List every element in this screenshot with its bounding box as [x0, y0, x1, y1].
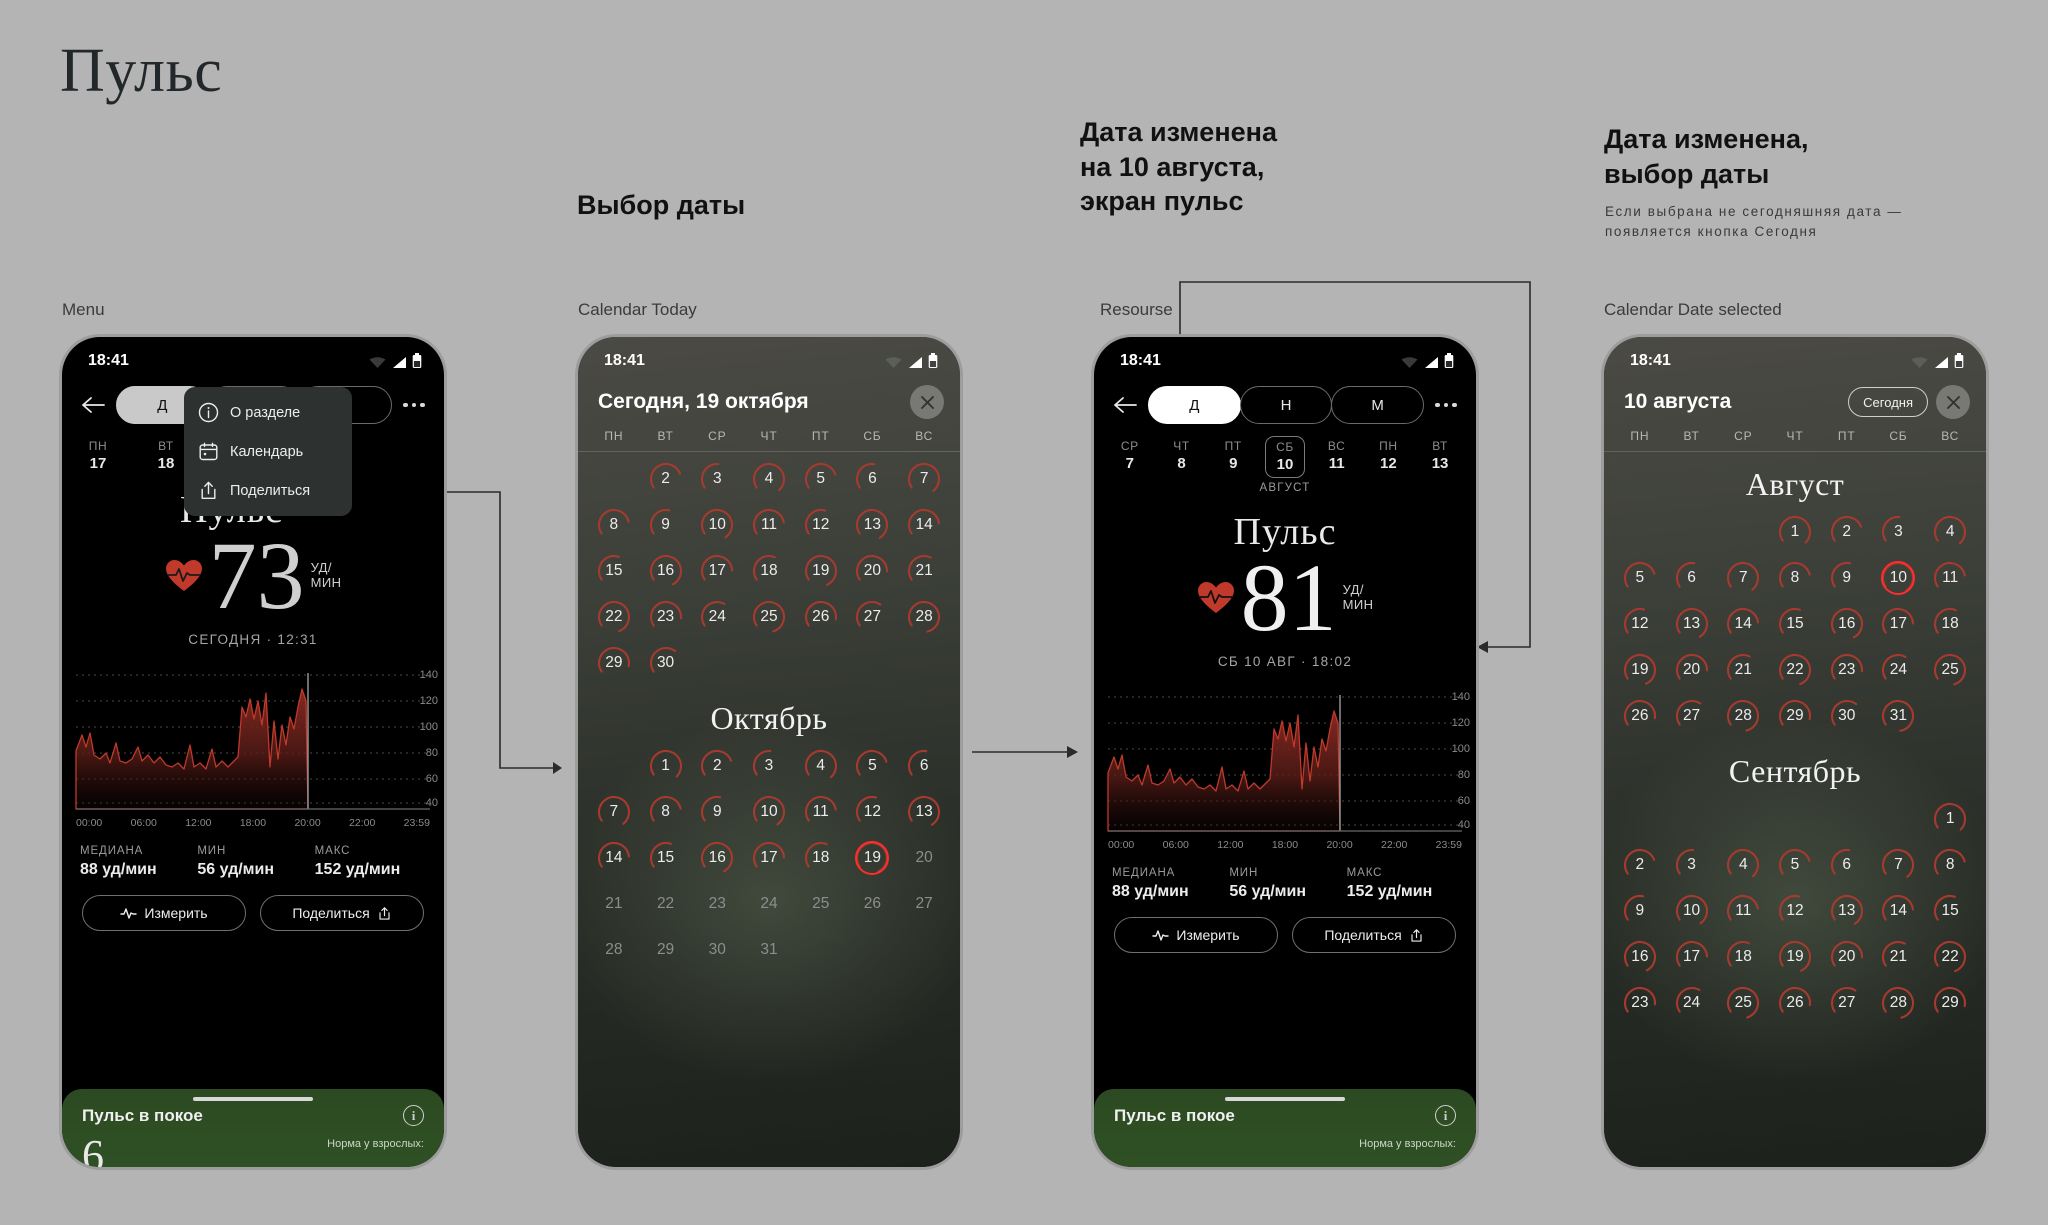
day-cell[interactable]: 1	[1924, 798, 1976, 840]
day-cell[interactable]: 6	[847, 458, 899, 500]
day-number: 27	[1838, 994, 1855, 1012]
y-label: 60	[426, 773, 438, 785]
weekday-label: ПН	[1614, 429, 1666, 443]
day-cell[interactable]: 15	[1924, 890, 1976, 932]
day-cell[interactable]: 27	[1666, 695, 1718, 737]
day-cell[interactable]: 8	[1769, 557, 1821, 599]
day-number: 3	[1687, 856, 1696, 874]
top-bar: Д Н М	[1094, 377, 1476, 430]
day-cell[interactable]: 23	[1821, 649, 1873, 691]
day-cell[interactable]: 24	[1873, 649, 1925, 691]
annotation-date-selected: Дата изменена, выбор даты	[1604, 122, 1808, 191]
status-clock: 18:41	[1630, 352, 1671, 370]
weekday-label: СБ	[1873, 429, 1925, 443]
annotation-subtext: Если выбрана не сегодняшняя дата — появл…	[1605, 202, 1903, 243]
date-num: 18	[146, 455, 186, 472]
day-cell[interactable]: 5	[1769, 844, 1821, 886]
bpm-unit: УД/ МИН	[311, 561, 342, 590]
day-number: 27	[864, 608, 881, 626]
screen-menu: 18:41 Д Н М ПН 17 ВТ 18	[62, 337, 444, 1167]
day-number: 4	[1946, 523, 1955, 541]
day-cell[interactable]: 13	[898, 791, 950, 833]
bpm-row: 81 УД/ МИН	[1094, 550, 1476, 646]
share-button-label: Поделиться	[1324, 927, 1401, 943]
pulse-chart: 140 120 100 80 60 40	[62, 663, 444, 813]
bpm-unit-line: УД/	[1343, 583, 1374, 598]
day-number: 6	[1842, 856, 1851, 874]
day-cell[interactable]: 9	[691, 791, 743, 833]
date-num: 12	[1368, 455, 1408, 472]
day-number: 4	[765, 470, 774, 488]
day-number: 31	[760, 941, 777, 959]
day-cell[interactable]: 12	[795, 504, 847, 546]
day-cell[interactable]: 10	[1873, 557, 1925, 599]
x-label: 23:59	[404, 817, 430, 829]
day-number: 13	[1683, 615, 1700, 633]
pulse-wave-icon	[120, 906, 137, 920]
back-arrow-icon[interactable]	[78, 393, 108, 417]
day-number: 31	[1890, 707, 1907, 725]
day-cell[interactable]: 17	[1666, 936, 1718, 978]
day-number: 26	[1631, 707, 1648, 725]
day-cell[interactable]: 29	[1924, 982, 1976, 1024]
day-cell[interactable]: 12	[1614, 603, 1666, 645]
date-cell[interactable]: ПН 12	[1368, 436, 1408, 478]
day-number: 20	[1683, 661, 1700, 679]
day-cell[interactable]: 31	[743, 929, 795, 971]
calendar-month-name: Сентябрь	[1614, 737, 1976, 798]
weekday-label: ВС	[1924, 429, 1976, 443]
wifi-icon	[885, 356, 902, 369]
info-icon	[198, 402, 219, 423]
weekday-label: ПТ	[1821, 429, 1873, 443]
day-cell[interactable]: 22	[1769, 649, 1821, 691]
status-bar: 18:41	[578, 337, 960, 377]
day-number: 19	[1786, 948, 1803, 966]
day-number: 14	[1890, 902, 1907, 920]
back-arrow-icon[interactable]	[1110, 393, 1140, 417]
day-cell[interactable]: 2	[640, 458, 692, 500]
y-label: 120	[420, 695, 438, 707]
day-cell[interactable]: 3	[1873, 511, 1925, 553]
day-cell[interactable]: 13	[1821, 890, 1873, 932]
wifi-icon	[369, 356, 386, 369]
day-cell[interactable]: 28	[1717, 695, 1769, 737]
day-cell[interactable]: 17	[1873, 603, 1925, 645]
day-cell[interactable]: 17	[691, 550, 743, 592]
day-number: 13	[916, 803, 933, 821]
day-number: 16	[709, 849, 726, 867]
day-cell[interactable]: 22	[588, 596, 640, 638]
day-cell[interactable]: 26	[1769, 982, 1821, 1024]
x-label: 18:00	[1272, 839, 1298, 851]
day-number: 25	[1735, 994, 1752, 1012]
measure-button[interactable]: Измерить	[82, 895, 246, 931]
day-cell[interactable]: 27	[847, 596, 899, 638]
date-cell[interactable]: СР 7	[1110, 436, 1150, 478]
stat-max: МАКС 152 уд/мин	[315, 845, 426, 879]
day-number: 17	[709, 562, 726, 580]
day-number: 15	[1942, 902, 1959, 920]
close-button[interactable]	[1936, 385, 1970, 419]
day-cell[interactable]: 8	[588, 504, 640, 546]
day-number: 2	[1636, 856, 1645, 874]
phone-screen-menu: 18:41 Д Н М ПН 17 ВТ 18	[62, 337, 444, 1167]
calendar-grid-previous-month: 2345678910111213141516171819202122232425…	[588, 458, 950, 684]
day-cell[interactable]: 28	[898, 596, 950, 638]
day-cell[interactable]: 16	[1821, 603, 1873, 645]
day-number: 26	[812, 608, 829, 626]
day-cell[interactable]: 4	[795, 745, 847, 787]
day-cell-empty	[588, 745, 640, 787]
info-icon[interactable]: i	[403, 1105, 424, 1126]
day-cell[interactable]: 2	[691, 745, 743, 787]
caption-calendar-today: Calendar Today	[578, 300, 697, 320]
close-button[interactable]	[910, 385, 944, 419]
date-cell[interactable]: ПТ 9	[1213, 436, 1253, 478]
weekday-label: ПН	[588, 429, 640, 443]
day-number: 4	[1739, 856, 1748, 874]
day-cell[interactable]: 8	[1924, 844, 1976, 886]
day-cell[interactable]: 19	[1614, 649, 1666, 691]
screen-calendar-selected: 18:41 10 августа Сегодня ПН ВТ СР ЧТ ПТ …	[1604, 337, 1986, 1167]
date-cell[interactable]: ВТ 18	[146, 436, 186, 476]
day-number: 21	[1890, 948, 1907, 966]
calendar-grid-september: 1234567891011121314151617181920212223242…	[1614, 798, 1976, 1024]
y-label: 40	[1458, 819, 1470, 831]
x-label: 12:00	[1217, 839, 1243, 851]
stat-label: МЕДИАНА	[1112, 867, 1223, 879]
day-cell[interactable]: 15	[1769, 603, 1821, 645]
day-cell[interactable]: 5	[795, 458, 847, 500]
day-cell[interactable]: 22	[640, 883, 692, 925]
stat-min: МИН 56 уд/мин	[1229, 867, 1340, 901]
day-cell[interactable]: 9	[640, 504, 692, 546]
day-cell[interactable]: 12	[1769, 890, 1821, 932]
day-number: 10	[1890, 569, 1907, 587]
stats-row: МЕДИАНА 88 уд/мин МИН 56 уд/мин МАКС 152…	[1094, 851, 1476, 901]
day-cell[interactable]: 11	[743, 504, 795, 546]
day-cell[interactable]: 6	[898, 745, 950, 787]
day-number: 1	[661, 757, 670, 775]
date-num: 11	[1317, 455, 1357, 472]
day-number: 27	[1683, 707, 1700, 725]
bpm-value: 73	[209, 528, 305, 624]
stat-label: МАКС	[315, 845, 426, 857]
day-number: 5	[1636, 569, 1645, 587]
status-bar: 18:41	[1094, 337, 1476, 377]
day-number: 18	[812, 849, 829, 867]
day-number: 3	[713, 470, 722, 488]
day-cell[interactable]: 9	[1614, 890, 1666, 932]
day-cell[interactable]: 21	[898, 550, 950, 592]
share-button[interactable]: Поделиться	[1292, 917, 1456, 953]
day-cell[interactable]: 25	[1924, 649, 1976, 691]
day-cell[interactable]: 1	[640, 745, 692, 787]
annotation-line: Дата изменена,	[1604, 122, 1808, 157]
day-number: 28	[605, 941, 622, 959]
signal-icon	[1933, 356, 1949, 369]
day-cell[interactable]: 18	[1924, 603, 1976, 645]
day-cell[interactable]: 7	[898, 458, 950, 500]
day-cell[interactable]: 13	[847, 504, 899, 546]
day-cell[interactable]: 27	[898, 883, 950, 925]
day-cell[interactable]: 11	[1717, 890, 1769, 932]
day-cell-empty	[1821, 798, 1873, 840]
day-number: 12	[812, 516, 829, 534]
bpm-value: 81	[1241, 550, 1337, 646]
y-label: 80	[426, 747, 438, 759]
home-indicator	[193, 1097, 313, 1101]
day-cell[interactable]: 19	[795, 550, 847, 592]
date-strip: СР 7 ЧТ 8 ПТ 9 СБ 10 ВС 11 ПН 12	[1094, 430, 1476, 480]
day-cell[interactable]: 5	[847, 745, 899, 787]
menu-item-share[interactable]: Поделиться	[184, 471, 352, 510]
day-number: 12	[1786, 902, 1803, 920]
day-cell[interactable]: 27	[1821, 982, 1873, 1024]
day-cell[interactable]: 17	[743, 837, 795, 879]
close-icon	[920, 395, 935, 410]
day-cell[interactable]: 29	[588, 642, 640, 684]
x-label: 20:00	[1326, 839, 1352, 851]
weekday-label: СР	[1717, 429, 1769, 443]
day-cell[interactable]: 28	[1873, 982, 1925, 1024]
calendar-weekday-header: ПН ВТ СР ЧТ ПТ СБ ВС	[578, 429, 960, 452]
day-cell[interactable]: 16	[1614, 936, 1666, 978]
annotation-subline: появляется кнопка Сегодня	[1605, 222, 1903, 242]
day-cell[interactable]: 23	[1614, 982, 1666, 1024]
day-cell[interactable]: 2	[1821, 511, 1873, 553]
day-cell[interactable]: 30	[1821, 695, 1873, 737]
day-cell[interactable]: 28	[588, 929, 640, 971]
day-number: 20	[916, 849, 933, 867]
day-cell[interactable]: 1	[1769, 511, 1821, 553]
day-number: 19	[864, 849, 881, 867]
context-menu: О разделе Календарь Поделиться	[184, 387, 352, 516]
calendar-icon	[198, 441, 219, 462]
period-segmented-control: Д Н М	[1148, 386, 1424, 424]
day-cell[interactable]: 14	[898, 504, 950, 546]
segment-day[interactable]: Д	[1148, 386, 1241, 424]
day-cell[interactable]: 13	[1666, 603, 1718, 645]
day-number: 4	[816, 757, 825, 775]
day-cell[interactable]: 10	[743, 791, 795, 833]
day-cell[interactable]: 12	[847, 791, 899, 833]
resting-pulse-title-row: Пульс в покое i	[82, 1105, 424, 1126]
day-number: 6	[920, 757, 929, 775]
caption-resourse: Resourse	[1100, 300, 1173, 320]
day-cell[interactable]: 20	[1821, 936, 1873, 978]
day-cell[interactable]: 9	[1821, 557, 1873, 599]
day-number: 12	[1631, 615, 1648, 633]
day-cell[interactable]: 19	[847, 837, 899, 879]
day-number: 26	[864, 895, 881, 913]
day-cell[interactable]: 21	[588, 883, 640, 925]
day-cell[interactable]: 23	[640, 596, 692, 638]
date-num: 13	[1420, 455, 1460, 472]
day-cell[interactable]: 14	[1873, 890, 1925, 932]
day-number: 8	[1946, 856, 1955, 874]
menu-item-label: Поделиться	[230, 483, 310, 499]
date-cell[interactable]: ВС 11	[1317, 436, 1357, 478]
date-cell-selected[interactable]: СБ 10	[1265, 436, 1305, 478]
stat-max: МАКС 152 уд/мин	[1347, 867, 1458, 901]
day-cell-empty	[1666, 511, 1718, 553]
more-options-icon[interactable]	[400, 403, 428, 408]
day-cell[interactable]: 26	[847, 883, 899, 925]
home-indicator	[1225, 1097, 1345, 1101]
day-cell[interactable]: 4	[743, 458, 795, 500]
day-cell[interactable]: 18	[743, 550, 795, 592]
measure-button[interactable]: Измерить	[1114, 917, 1278, 953]
day-number: 28	[1890, 994, 1907, 1012]
signal-icon	[391, 356, 407, 369]
day-number: 10	[760, 803, 777, 821]
day-number: 29	[657, 941, 674, 959]
day-cell[interactable]: 3	[1666, 844, 1718, 886]
day-cell[interactable]: 6	[1821, 844, 1873, 886]
day-cell[interactable]: 30	[640, 642, 692, 684]
day-number: 29	[605, 654, 622, 672]
wifi-icon	[1401, 356, 1418, 369]
day-number: 14	[1735, 615, 1752, 633]
day-cell[interactable]: 26	[795, 596, 847, 638]
day-cell[interactable]: 3	[743, 745, 795, 787]
day-cell[interactable]: 22	[1924, 936, 1976, 978]
resting-pulse-note: Норма у взрослых:	[1114, 1138, 1456, 1150]
day-cell[interactable]: 20	[898, 837, 950, 879]
annotation-date-changed: Дата изменена на 10 августа, экран пульс	[1080, 115, 1277, 219]
day-cell[interactable]: 15	[640, 837, 692, 879]
day-cell[interactable]: 21	[1717, 649, 1769, 691]
resting-pulse-title-row: Пульс в покое i	[1114, 1105, 1456, 1126]
day-number: 21	[1735, 661, 1752, 679]
day-cell[interactable]: 30	[691, 929, 743, 971]
day-number: 30	[657, 654, 674, 672]
day-number: 17	[760, 849, 777, 867]
day-cell[interactable]: 24	[1666, 982, 1718, 1024]
signal-icon	[907, 356, 923, 369]
segment-month[interactable]: М	[1331, 386, 1424, 424]
day-cell[interactable]: 6	[1666, 557, 1718, 599]
day-cell[interactable]: 7	[1873, 844, 1925, 886]
stat-label: МИН	[197, 845, 308, 857]
day-cell[interactable]: 14	[588, 837, 640, 879]
segment-week[interactable]: Н	[1240, 386, 1333, 424]
day-cell[interactable]: 18	[795, 837, 847, 879]
day-cell[interactable]: 16	[640, 550, 692, 592]
day-cell[interactable]: 26	[1614, 695, 1666, 737]
day-cell[interactable]: 15	[588, 550, 640, 592]
day-cell-empty	[1614, 798, 1666, 840]
day-number: 19	[812, 562, 829, 580]
share-button[interactable]: Поделиться	[260, 895, 424, 931]
day-cell-empty	[1873, 798, 1925, 840]
day-cell[interactable]: 8	[640, 791, 692, 833]
day-cell[interactable]: 10	[691, 504, 743, 546]
day-cell[interactable]: 19	[1769, 936, 1821, 978]
day-cell[interactable]: 21	[1873, 936, 1925, 978]
battery-icon	[1444, 353, 1454, 369]
weekday-label: СБ	[847, 429, 899, 443]
day-cell[interactable]: 5	[1614, 557, 1666, 599]
day-cell[interactable]: 14	[1717, 603, 1769, 645]
day-cell[interactable]: 25	[795, 883, 847, 925]
day-cell-empty	[1666, 798, 1718, 840]
day-cell[interactable]: 29	[640, 929, 692, 971]
day-cell[interactable]: 31	[1873, 695, 1925, 737]
day-cell-empty	[1717, 798, 1769, 840]
day-cell[interactable]: 23	[691, 883, 743, 925]
day-number: 15	[657, 849, 674, 867]
day-cell[interactable]: 20	[847, 550, 899, 592]
day-cell[interactable]: 29	[1769, 695, 1821, 737]
day-cell[interactable]: 25	[743, 596, 795, 638]
day-cell[interactable]: 4	[1924, 511, 1976, 553]
day-number: 8	[610, 516, 619, 534]
day-number: 9	[1842, 569, 1851, 587]
menu-item-calendar[interactable]: Календарь	[184, 432, 352, 471]
day-cell[interactable]: 20	[1666, 649, 1718, 691]
day-cell[interactable]: 24	[691, 596, 743, 638]
day-number: 22	[1942, 948, 1959, 966]
status-icons	[369, 353, 422, 369]
status-icons	[1911, 353, 1964, 369]
chart-x-axis: 00:00 06:00 12:00 18:00 20:00 22:00 23:5…	[62, 813, 444, 829]
flow-arrow-2	[972, 742, 1092, 762]
status-icons	[1401, 353, 1454, 369]
day-cell[interactable]: 11	[795, 791, 847, 833]
battery-icon	[412, 353, 422, 369]
day-number: 9	[713, 803, 722, 821]
date-dow: ВТ	[146, 439, 186, 453]
day-number: 1	[1791, 523, 1800, 541]
date-num: 9	[1213, 455, 1253, 472]
day-cell[interactable]: 7	[588, 791, 640, 833]
stat-value: 152 уд/мин	[1347, 883, 1458, 901]
bpm-unit-line: УД/	[311, 561, 342, 576]
day-cell[interactable]: 4	[1717, 844, 1769, 886]
day-cell[interactable]: 16	[691, 837, 743, 879]
day-cell[interactable]: 7	[1717, 557, 1769, 599]
calendar-grid-august: 1234567891011121314151617181920212223242…	[1614, 511, 1976, 737]
day-number: 3	[1894, 523, 1903, 541]
day-number: 11	[813, 803, 829, 821]
caption-calendar-date-selected: Calendar Date selected	[1604, 300, 1782, 320]
today-button[interactable]: Сегодня	[1848, 387, 1928, 417]
more-options-icon[interactable]	[1432, 403, 1460, 408]
stat-median: МЕДИАНА 88 уд/мин	[1112, 867, 1223, 901]
day-cell[interactable]: 2	[1614, 844, 1666, 886]
date-cell[interactable]: ЧТ 8	[1162, 436, 1202, 478]
day-cell[interactable]: 10	[1666, 890, 1718, 932]
day-cell[interactable]: 3	[691, 458, 743, 500]
day-cell[interactable]: 18	[1717, 936, 1769, 978]
day-cell[interactable]: 25	[1717, 982, 1769, 1024]
day-cell[interactable]: 24	[743, 883, 795, 925]
menu-item-about[interactable]: О разделе	[184, 393, 352, 432]
day-number: 1	[1946, 810, 1955, 828]
day-number: 23	[1631, 994, 1648, 1012]
day-number: 22	[605, 608, 622, 626]
day-number: 16	[657, 562, 674, 580]
day-number: 5	[868, 757, 877, 775]
date-cell[interactable]: ПН 17	[78, 436, 118, 476]
day-cell[interactable]: 11	[1924, 557, 1976, 599]
info-icon[interactable]: i	[1435, 1105, 1456, 1126]
date-cell[interactable]: ВТ 13	[1420, 436, 1460, 478]
stat-label: МИН	[1229, 867, 1340, 879]
